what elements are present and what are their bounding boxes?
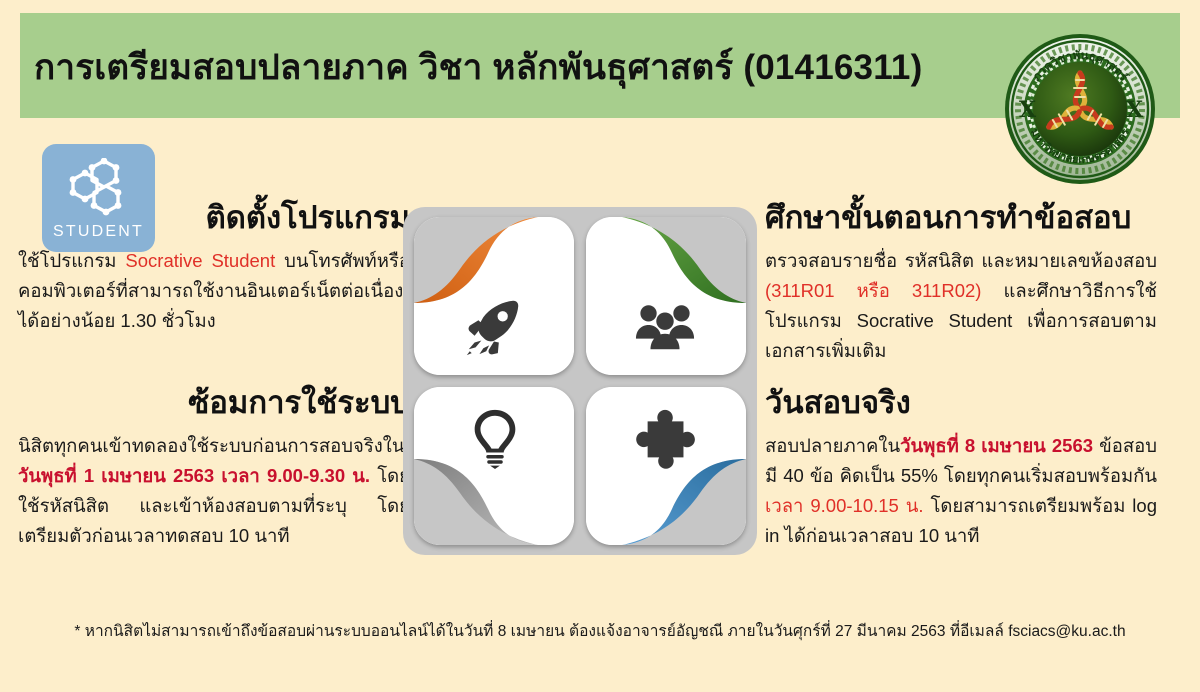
puzzle-piece-icon bbox=[636, 407, 698, 469]
tile-step-1 bbox=[414, 217, 574, 375]
section-study-exam-steps: ศึกษาขั้นตอนการทำข้อสอบ ตรวจสอบรายชื่อ ร… bbox=[765, 200, 1157, 366]
section-3-body: นิสิตทุกคนเข้าทดลองใช้ระบบก่อนการสอบจริง… bbox=[18, 431, 410, 551]
section-2-heading: ศึกษาขั้นตอนการทำข้อสอบ bbox=[765, 200, 1157, 236]
page-title: การเตรียมสอบปลายภาค วิชา หลักพันธุศาสตร์… bbox=[34, 40, 922, 95]
section-2-body: ตรวจสอบรายชื่อ รหัสนิสิต และหมายเลขห้องส… bbox=[765, 246, 1157, 366]
section-3-heading: ซ้อมการใช้ระบบ bbox=[18, 385, 410, 421]
section-4-heading: วันสอบจริง bbox=[765, 385, 1157, 421]
section-4-body: สอบปลายภาคในวันพุธที่ 8 เมษายน 2563 ข้อส… bbox=[765, 431, 1157, 551]
lightbulb-icon bbox=[464, 407, 526, 469]
section-1-body: ใช้โปรแกรม Socrative Student บนโทรศัพท์ห… bbox=[18, 246, 410, 336]
infographic-page: การเตรียมสอบปลายภาค วิชา หลักพันธุศาสตร์… bbox=[0, 0, 1200, 692]
university-seal-logo: X X ภาควิชาพันธุศาสตร์ มหาวิทยาลัยเกษตรศ… bbox=[1004, 33, 1156, 185]
tile-step-3 bbox=[414, 387, 574, 545]
svg-text:X: X bbox=[1126, 97, 1144, 123]
footnote-text: * หากนิสิตไม่สามารถเข้าถึงข้อสอบผ่านระบบ… bbox=[0, 618, 1200, 643]
section-install-program: ติดตั้งโปรแกรม ใช้โปรแกรม Socrative Stud… bbox=[18, 200, 410, 336]
four-step-tiles-graphic: 1 2 3 4 bbox=[403, 207, 757, 555]
section-1-heading: ติดตั้งโปรแกรม bbox=[18, 200, 410, 236]
tile-step-4 bbox=[586, 387, 746, 545]
tile-step-2 bbox=[586, 217, 746, 375]
section-exam-day: วันสอบจริง สอบปลายภาคในวันพุธที่ 8 เมษาย… bbox=[765, 385, 1157, 551]
group-people-icon bbox=[634, 295, 696, 357]
section-practice-system: ซ้อมการใช้ระบบ นิสิตทุกคนเข้าทดลองใช้ระบ… bbox=[18, 385, 410, 551]
rocket-icon bbox=[462, 295, 524, 357]
svg-text:X: X bbox=[1019, 97, 1037, 123]
